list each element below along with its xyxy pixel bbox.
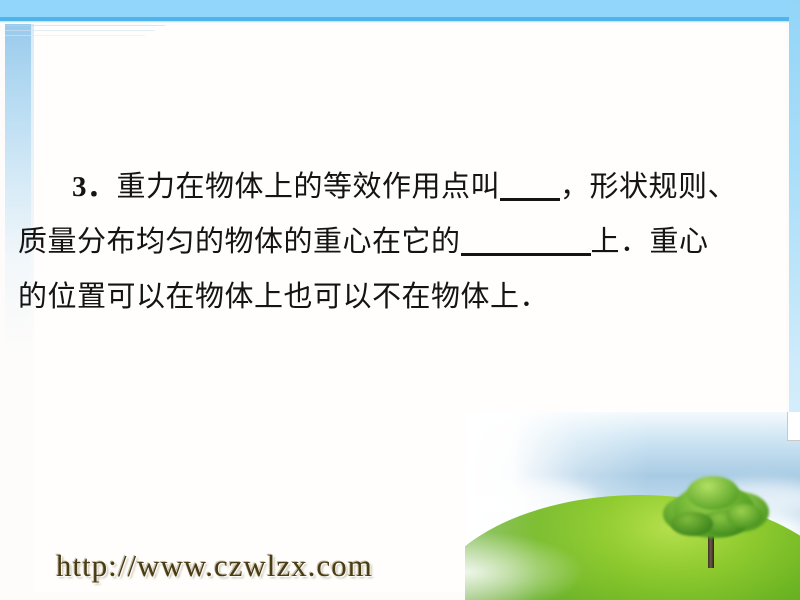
top-accent-band [0,0,800,17]
question-text-block: 3．重力在物体上的等效作用点叫，形状规则、 质量分布均匀的物体的重心在它的上．重… [18,160,782,325]
photo-corner-notch [787,412,800,441]
question-number: 3． [72,171,117,203]
corner-rule-1 [5,25,165,26]
grass-hill-glow [465,530,585,600]
tree-canopy [671,512,713,536]
question-line-1: 3．重力在物体上的等效作用点叫，形状规则、 [18,160,782,215]
footer-url[interactable]: http://www.czwlzx.com [56,548,373,584]
question-line-1-text-a: 重力在物体上的等效作用点叫 [117,171,501,203]
question-line-2: 质量分布均匀的物体的重心在它的上．重心 [18,215,782,270]
presentation-slide: 3．重力在物体上的等效作用点叫，形状规则、 质量分布均匀的物体的重心在它的上．重… [0,0,800,600]
top-accent-rule-fade [0,21,800,23]
question-line-2-text-b: 上．重心 [591,226,709,258]
answer-blank-2[interactable] [461,231,591,256]
nature-photo [465,412,800,600]
question-line-1-text-b: ，形状规则、 [560,171,737,203]
tree-canopy [727,504,763,528]
corner-rule-2 [5,30,155,31]
corner-rule-3 [5,35,145,36]
question-line-2-text-a: 质量分布均匀的物体的重心在它的 [18,226,461,258]
answer-blank-1[interactable] [500,176,560,201]
question-line-3: 的位置可以在物体上也可以不在物体上． [18,270,782,325]
tree-canopy [687,476,739,510]
